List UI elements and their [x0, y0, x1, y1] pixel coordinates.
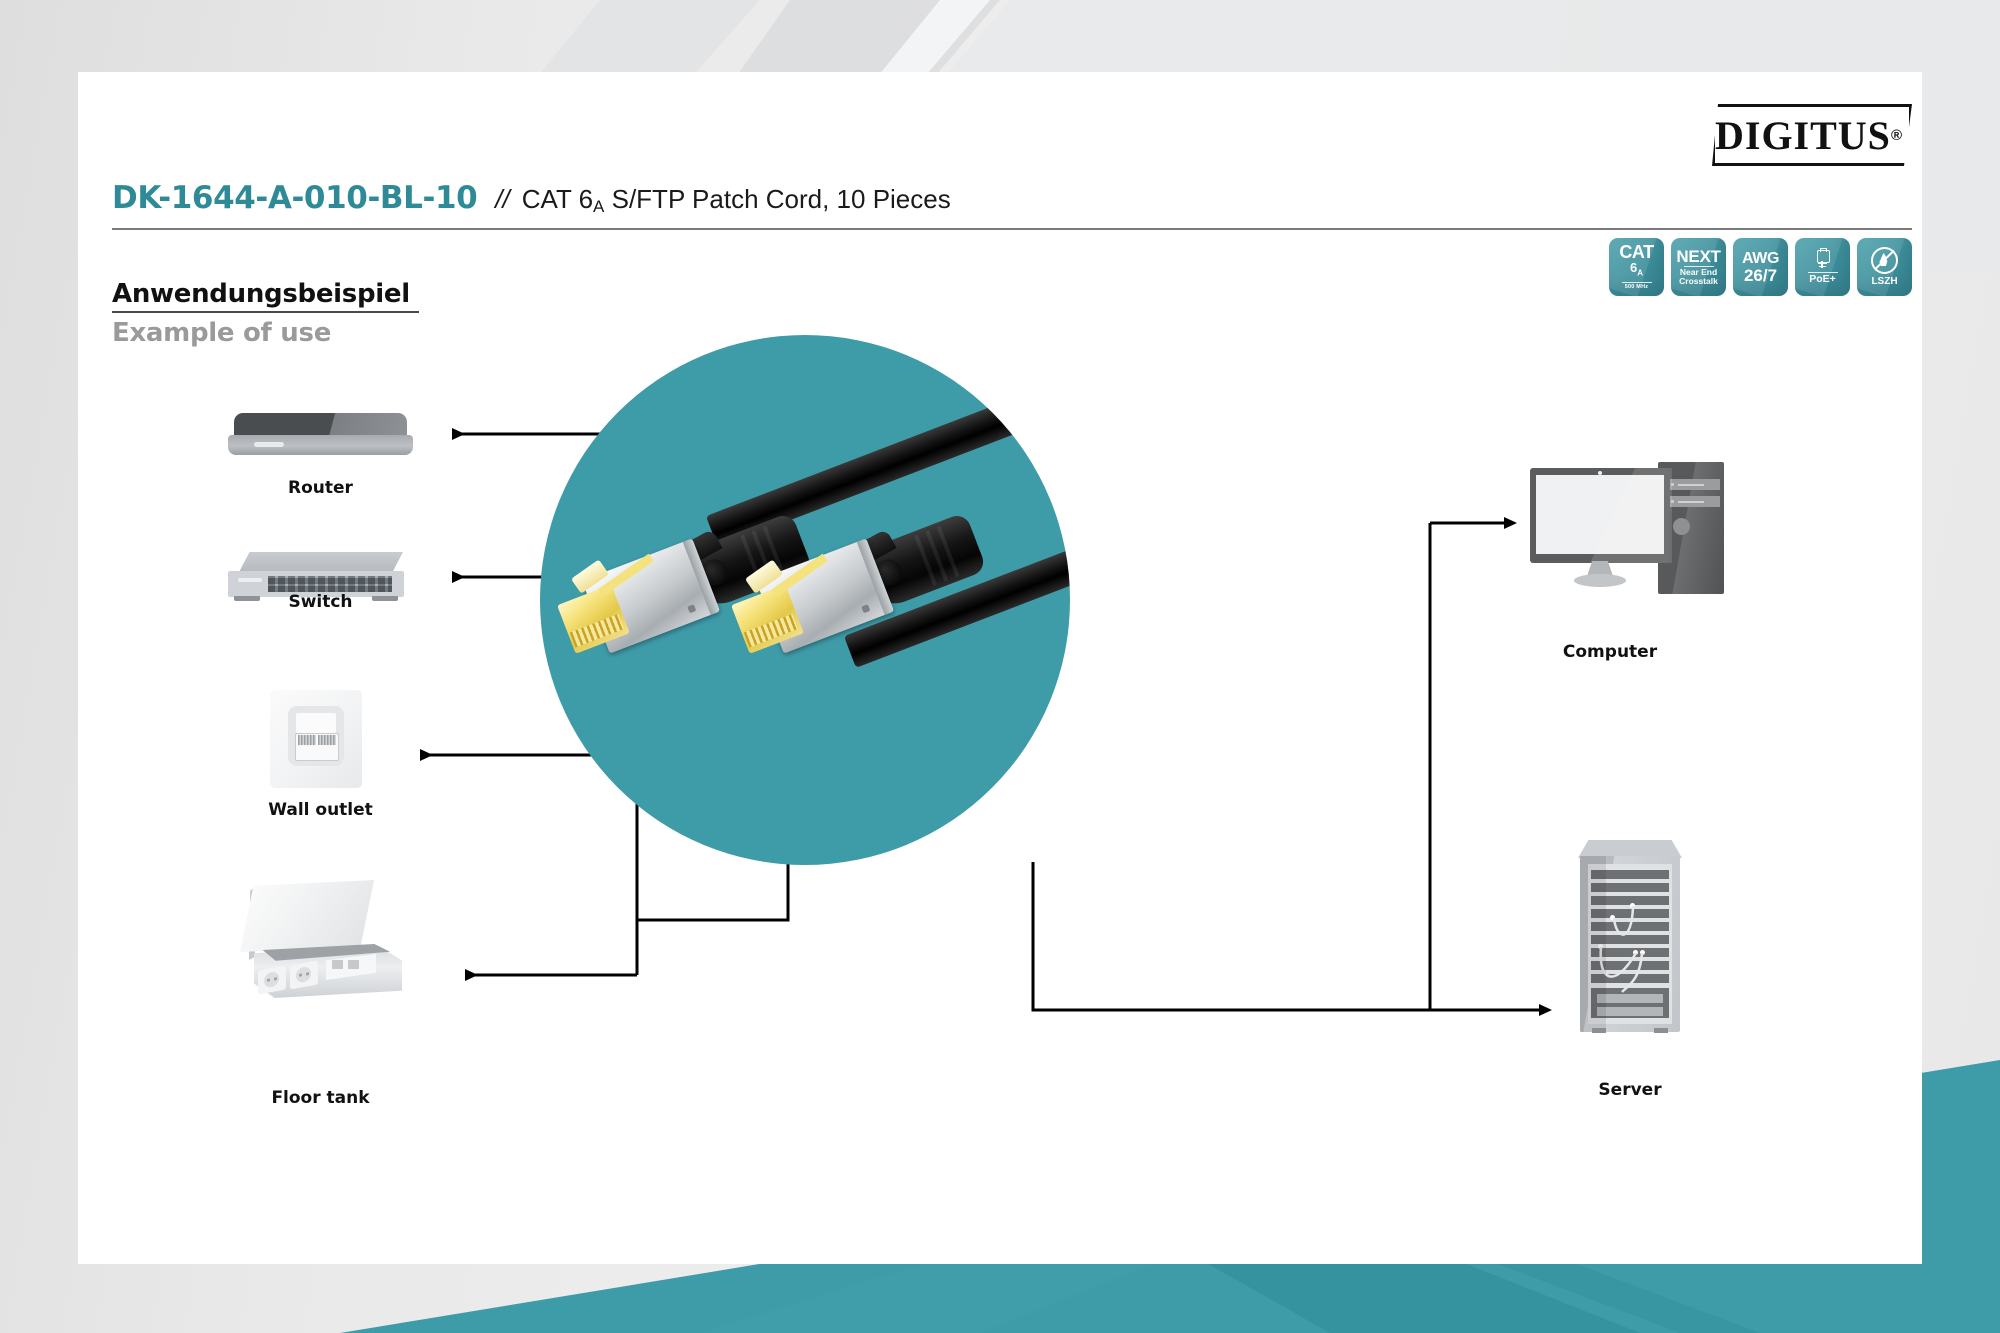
- cat6a-num: 6: [1630, 260, 1637, 275]
- computer-power-button: [1673, 518, 1690, 535]
- device-computer: [1530, 462, 1730, 597]
- outlet-jack-port-1: [298, 735, 316, 745]
- logo-word: DIGITUS: [1715, 112, 1891, 159]
- device-wall-outlet: [270, 690, 362, 788]
- desc-post: S/FTP Patch Cord, 10 Pieces: [604, 184, 950, 214]
- tank-network-jack-1: [332, 960, 343, 969]
- section-heading-underline: [112, 311, 419, 313]
- server-side-shade: [1580, 856, 1606, 1032]
- cat6a-badge-line3: 500 MHz: [1625, 284, 1648, 290]
- product-hero-image: [540, 335, 1070, 865]
- outlet-label-window: [296, 713, 336, 733]
- next-badge-line1: NEXT: [1676, 248, 1720, 265]
- poe-badge: PoE+: [1795, 238, 1850, 296]
- awg-badge: AWG 26/7: [1733, 238, 1788, 296]
- digitus-logo: DIGITUS®: [1712, 104, 1912, 166]
- next-badge-line3: Crosstalk: [1679, 277, 1718, 287]
- desc-pre: CAT 6: [522, 184, 593, 214]
- registered-icon: ®: [1891, 127, 1903, 144]
- title-divider: [112, 228, 1912, 230]
- lszh-badge: LSZH: [1857, 238, 1912, 296]
- label-server: Server: [1540, 1080, 1720, 1100]
- server-foot-right: [1654, 1028, 1668, 1033]
- lszh-badge-label: LSZH: [1871, 276, 1897, 287]
- switch-port-grid: [268, 576, 392, 592]
- label-computer: Computer: [1510, 642, 1710, 662]
- computer-bay-slot-2: [1678, 501, 1704, 503]
- device-router: [228, 413, 413, 455]
- poe-badge-label: PoE+: [1809, 274, 1836, 285]
- switch-led-bar: [238, 578, 262, 582]
- next-badge: NEXT Near End Crosstalk: [1671, 238, 1726, 296]
- server-foot-left: [1592, 1028, 1606, 1033]
- computer-bay-slot-1: [1678, 484, 1704, 486]
- outlet-jack-port-2: [318, 735, 336, 745]
- section-heading-en: Example of use: [112, 318, 331, 348]
- cat6a-badge-rule: [1622, 282, 1652, 283]
- label-floor-tank: Floor tank: [228, 1088, 413, 1108]
- desc-subscript: A: [593, 197, 604, 216]
- tank-power-socket-1: [258, 966, 286, 995]
- tank-power-socket-2: [290, 961, 318, 990]
- cat6a-badge-line2: 6A: [1630, 261, 1643, 281]
- section-heading-de: Anwendungsbeispiel: [112, 279, 410, 309]
- product-description: CAT 6A S/FTP Patch Cord, 10 Pieces: [522, 184, 951, 215]
- monitor-camera-icon: [1598, 471, 1602, 475]
- awg-badge-line2: 26/7: [1744, 267, 1777, 285]
- no-flame-icon: [1871, 247, 1898, 274]
- router-led: [254, 442, 284, 447]
- cat6a-badge: CAT 6A 500 MHz: [1609, 238, 1664, 296]
- title-separator: //: [495, 184, 509, 215]
- cat6a-sub: A: [1637, 269, 1643, 278]
- device-floor-tank: [240, 880, 415, 1005]
- tank-lid: [240, 880, 374, 952]
- device-server: [1578, 840, 1682, 1040]
- next-badge-rule: [1684, 266, 1714, 267]
- product-title-row: DK-1644-A-010-BL-10 // CAT 6A S/FTP Patc…: [112, 180, 1912, 226]
- tank-network-jack-2: [348, 960, 359, 969]
- cat6a-badge-line1: CAT: [1619, 244, 1653, 261]
- label-router: Router: [228, 478, 413, 498]
- cable-upper: [706, 351, 1070, 548]
- awg-badge-line1: AWG: [1742, 250, 1779, 267]
- product-sku: DK-1644-A-010-BL-10: [112, 180, 477, 216]
- slide-canvas: DIGITUS® DK-1644-A-010-BL-10 // CAT 6A S…: [0, 0, 2000, 1333]
- label-switch: Switch: [228, 592, 413, 612]
- hero-clip: [540, 335, 1070, 865]
- logo-wordmark: DIGITUS®: [1712, 104, 1912, 166]
- label-wall-outlet: Wall outlet: [228, 800, 413, 820]
- spec-badge-group: CAT 6A 500 MHz NEXT Near End Crosstalk A…: [1609, 238, 1912, 296]
- rj45-plug-icon: [1816, 250, 1829, 270]
- monitor-stand-base: [1574, 574, 1626, 587]
- outlet-rj45-jack: [295, 733, 339, 761]
